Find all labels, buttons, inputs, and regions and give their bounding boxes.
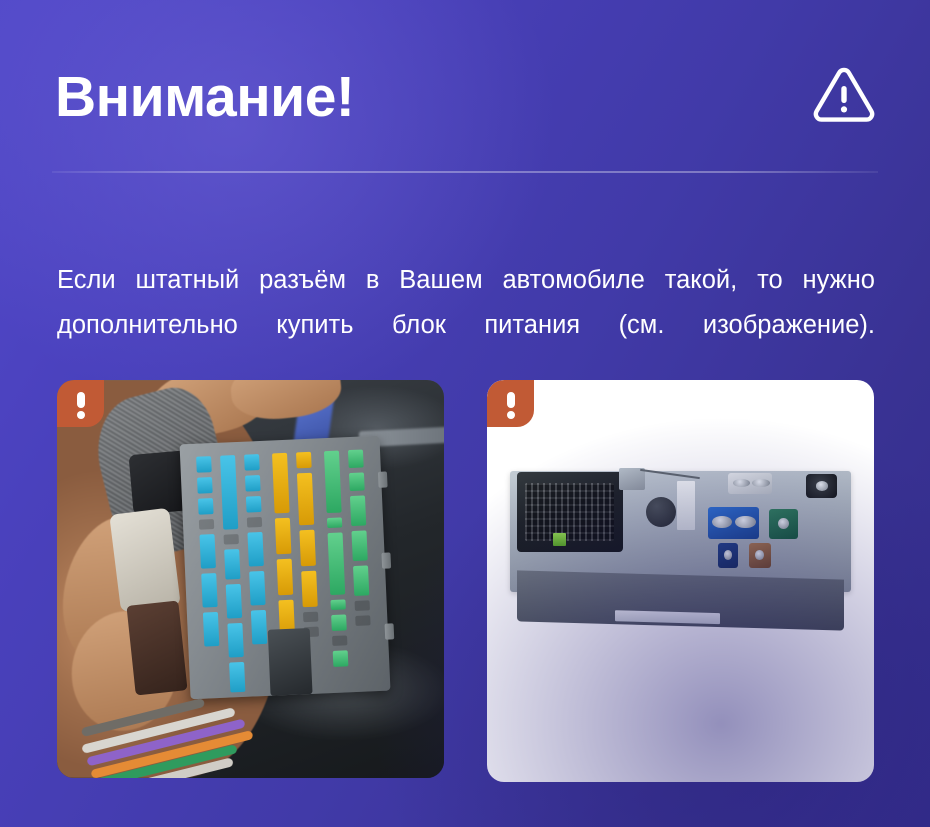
connector-notch: [267, 627, 312, 695]
unit-brown-fakra-connector: [749, 543, 771, 567]
warning-triangle-icon: [813, 67, 875, 128]
connector-pin-slot: [332, 650, 348, 667]
unit-label-strip: [677, 481, 695, 530]
connector-pin-slot: [229, 661, 245, 692]
unit-navy-fakra-connector: [718, 543, 738, 567]
connector-pin-column: [244, 453, 267, 648]
unit-blue-fakra-connector: [708, 507, 759, 539]
connector-pin-slot: [198, 498, 214, 515]
connector-pin-slot: [224, 548, 240, 579]
connector-pin-slot: [199, 518, 214, 529]
connector-pin-slot: [332, 635, 347, 646]
connector-pin-slot: [203, 611, 219, 646]
connector-pin-slot: [348, 449, 364, 468]
connector-pin-slot: [276, 558, 293, 595]
connector-pin-slot: [197, 477, 213, 494]
unit-black-connector: [517, 472, 623, 552]
unit-white-connector: [728, 473, 772, 494]
power-supply-photo: [510, 460, 851, 629]
connector-pin-slot: [249, 570, 265, 605]
connector-pin-slot: [246, 495, 262, 512]
connector-pin-column: [296, 451, 319, 641]
connector-pin-slot: [247, 531, 263, 566]
oem-connector-photo: [57, 380, 444, 778]
connector-pin-slot: [296, 451, 312, 468]
connector-pin-slot: [299, 529, 316, 566]
connector-pin-slot: [331, 614, 347, 631]
connector-pin-slot: [272, 452, 290, 513]
connector-pin-column: [220, 454, 246, 696]
connector-pin-slot: [201, 572, 217, 607]
unit-green-key: [553, 533, 566, 546]
connector-pin-slot: [223, 533, 238, 544]
warning-poster: Внимание! Если штатный разъём в Вашем ав…: [0, 0, 930, 827]
photo-quadlock-connector: [179, 435, 390, 698]
unit-base-plate: [517, 571, 844, 631]
connector-pin-column: [196, 456, 219, 651]
connector-pin-slot: [297, 472, 314, 525]
exclamation-badge-icon: [57, 380, 104, 427]
header-divider: [52, 171, 878, 173]
photo-brown-plug: [126, 600, 187, 695]
connector-pin-slot: [349, 472, 365, 491]
warning-paragraph: Если штатный разъём в Вашем автомобиле т…: [57, 258, 875, 393]
connector-pin-slot: [330, 599, 345, 610]
oem-connector-card[interactable]: [57, 380, 444, 778]
unit-black-round-connector: [806, 474, 837, 498]
connector-pin-slot: [354, 600, 369, 611]
connector-pin-slot: [301, 570, 318, 607]
connector-pin-slot: [225, 583, 241, 618]
connector-pin-slot: [251, 609, 267, 644]
connector-pin-slot: [327, 517, 342, 528]
connector-pin-slot: [196, 456, 212, 473]
connector-pin-slot: [244, 453, 260, 470]
connector-pin-slot: [245, 474, 261, 491]
connector-pin-slot: [246, 516, 261, 527]
photo-white-clip: [109, 508, 180, 613]
connector-pin-slot: [351, 530, 367, 561]
photo-wire-bundle: [80, 690, 304, 778]
connector-pin-slot: [327, 532, 345, 595]
connector-pin-slot: [275, 517, 292, 554]
connector-pin-slot: [350, 495, 366, 526]
connector-pin-slot: [227, 622, 243, 657]
connector-pin-slot: [303, 611, 318, 622]
connector-pin-slot: [220, 454, 238, 529]
page-title: Внимание!: [55, 69, 354, 126]
unit-green-fakra-connector: [769, 509, 798, 538]
connector-pin-slot: [353, 565, 369, 596]
exclamation-badge-icon: [487, 380, 534, 427]
unit-knob: [646, 497, 676, 527]
unit-pin-grid: [525, 483, 614, 541]
unit-label-text: [615, 610, 720, 624]
unit-wire: [640, 469, 700, 479]
connector-pin-slot: [199, 533, 215, 568]
poster-header: Внимание!: [55, 52, 875, 142]
connector-pin-slot: [355, 615, 370, 626]
connector-pin-slot: [324, 450, 342, 513]
connector-pin-column: [324, 450, 349, 671]
connector-pin-column: [348, 449, 371, 630]
unit-tab: [619, 468, 645, 490]
power-supply-card[interactable]: [487, 380, 874, 782]
